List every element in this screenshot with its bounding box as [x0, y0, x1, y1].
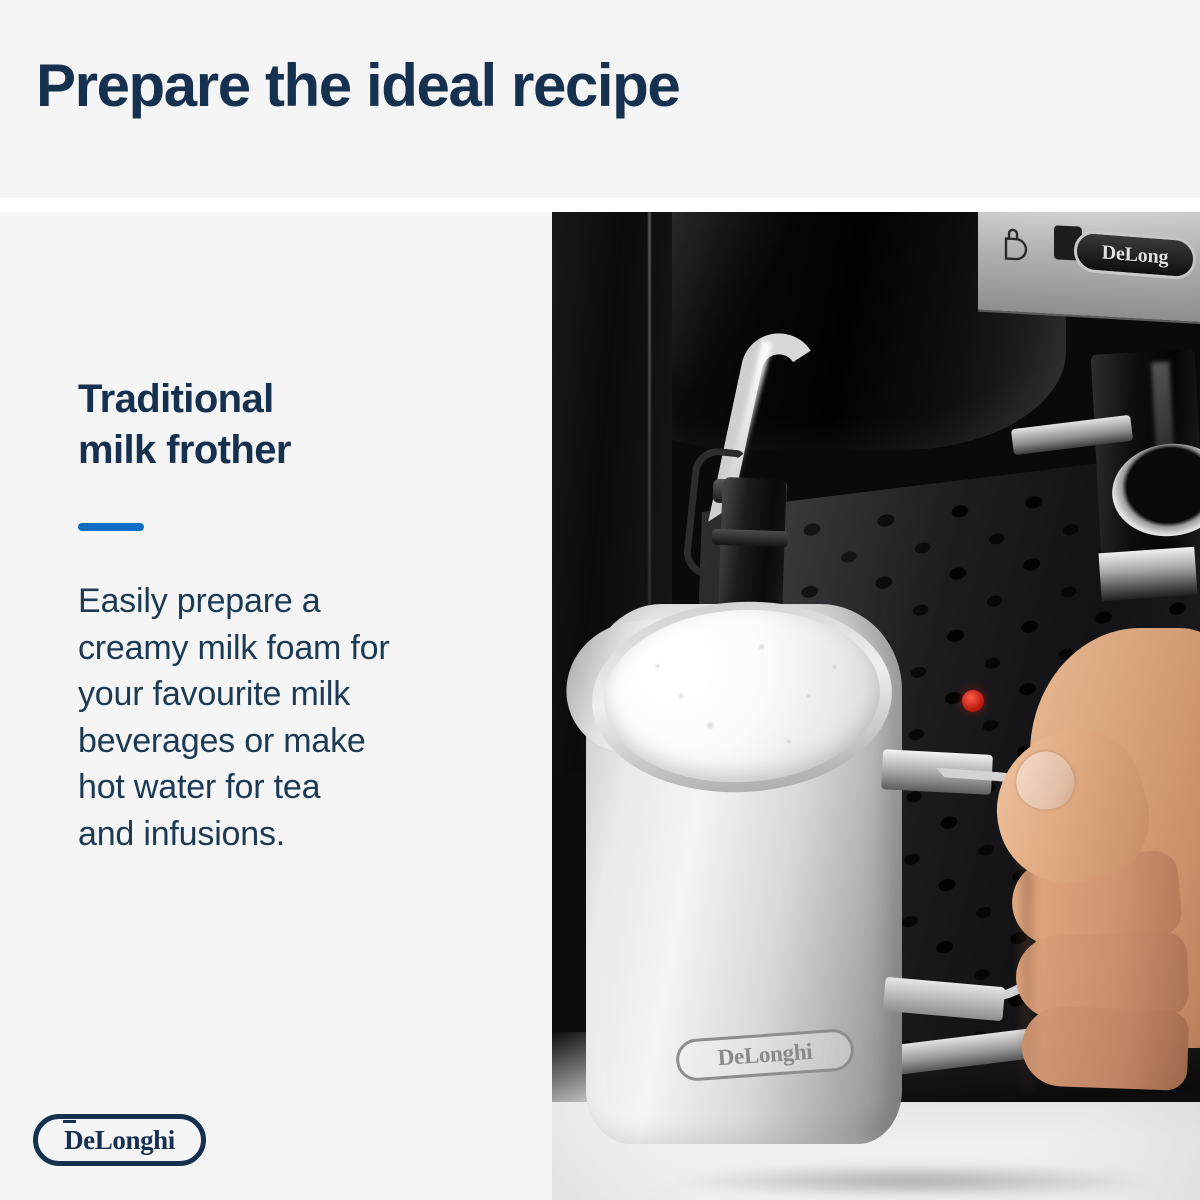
coffee-cup-icon: [1002, 227, 1028, 262]
product-photo: DeLong: [552, 212, 1200, 1200]
feature-body-text: Easily prepare a creamy milk foam for yo…: [78, 578, 468, 857]
milk-jug-logo-label: DeLonghi: [717, 1039, 813, 1072]
header-divider: [0, 198, 1200, 212]
chrome-sleeve: [1098, 547, 1197, 602]
machine-badge-label: DeLong: [1102, 241, 1169, 269]
hand-holding-jug: [960, 604, 1200, 1104]
hand-finger-ring: [1021, 1005, 1190, 1091]
delonghi-brand-logo: DeLonghi: [33, 1114, 206, 1166]
base-drop-shadow: [672, 1164, 1152, 1198]
accent-rule-divider: [78, 523, 144, 531]
text-column: Traditional milk frother Easily prepare …: [0, 212, 552, 1200]
hand-knuckle-shading: [1020, 854, 1034, 1094]
macron-accent-icon: [63, 1120, 76, 1123]
feature-heading: Traditional milk frother: [78, 374, 498, 476]
page-title: Prepare the ideal recipe: [36, 52, 679, 119]
steam-wand-ring: [712, 529, 789, 548]
header-band: Prepare the ideal recipe: [0, 0, 1200, 198]
brand-logo-label: DeLonghi: [64, 1127, 175, 1154]
product-feature-page: Prepare the ideal recipe Traditional mil…: [0, 0, 1200, 1200]
